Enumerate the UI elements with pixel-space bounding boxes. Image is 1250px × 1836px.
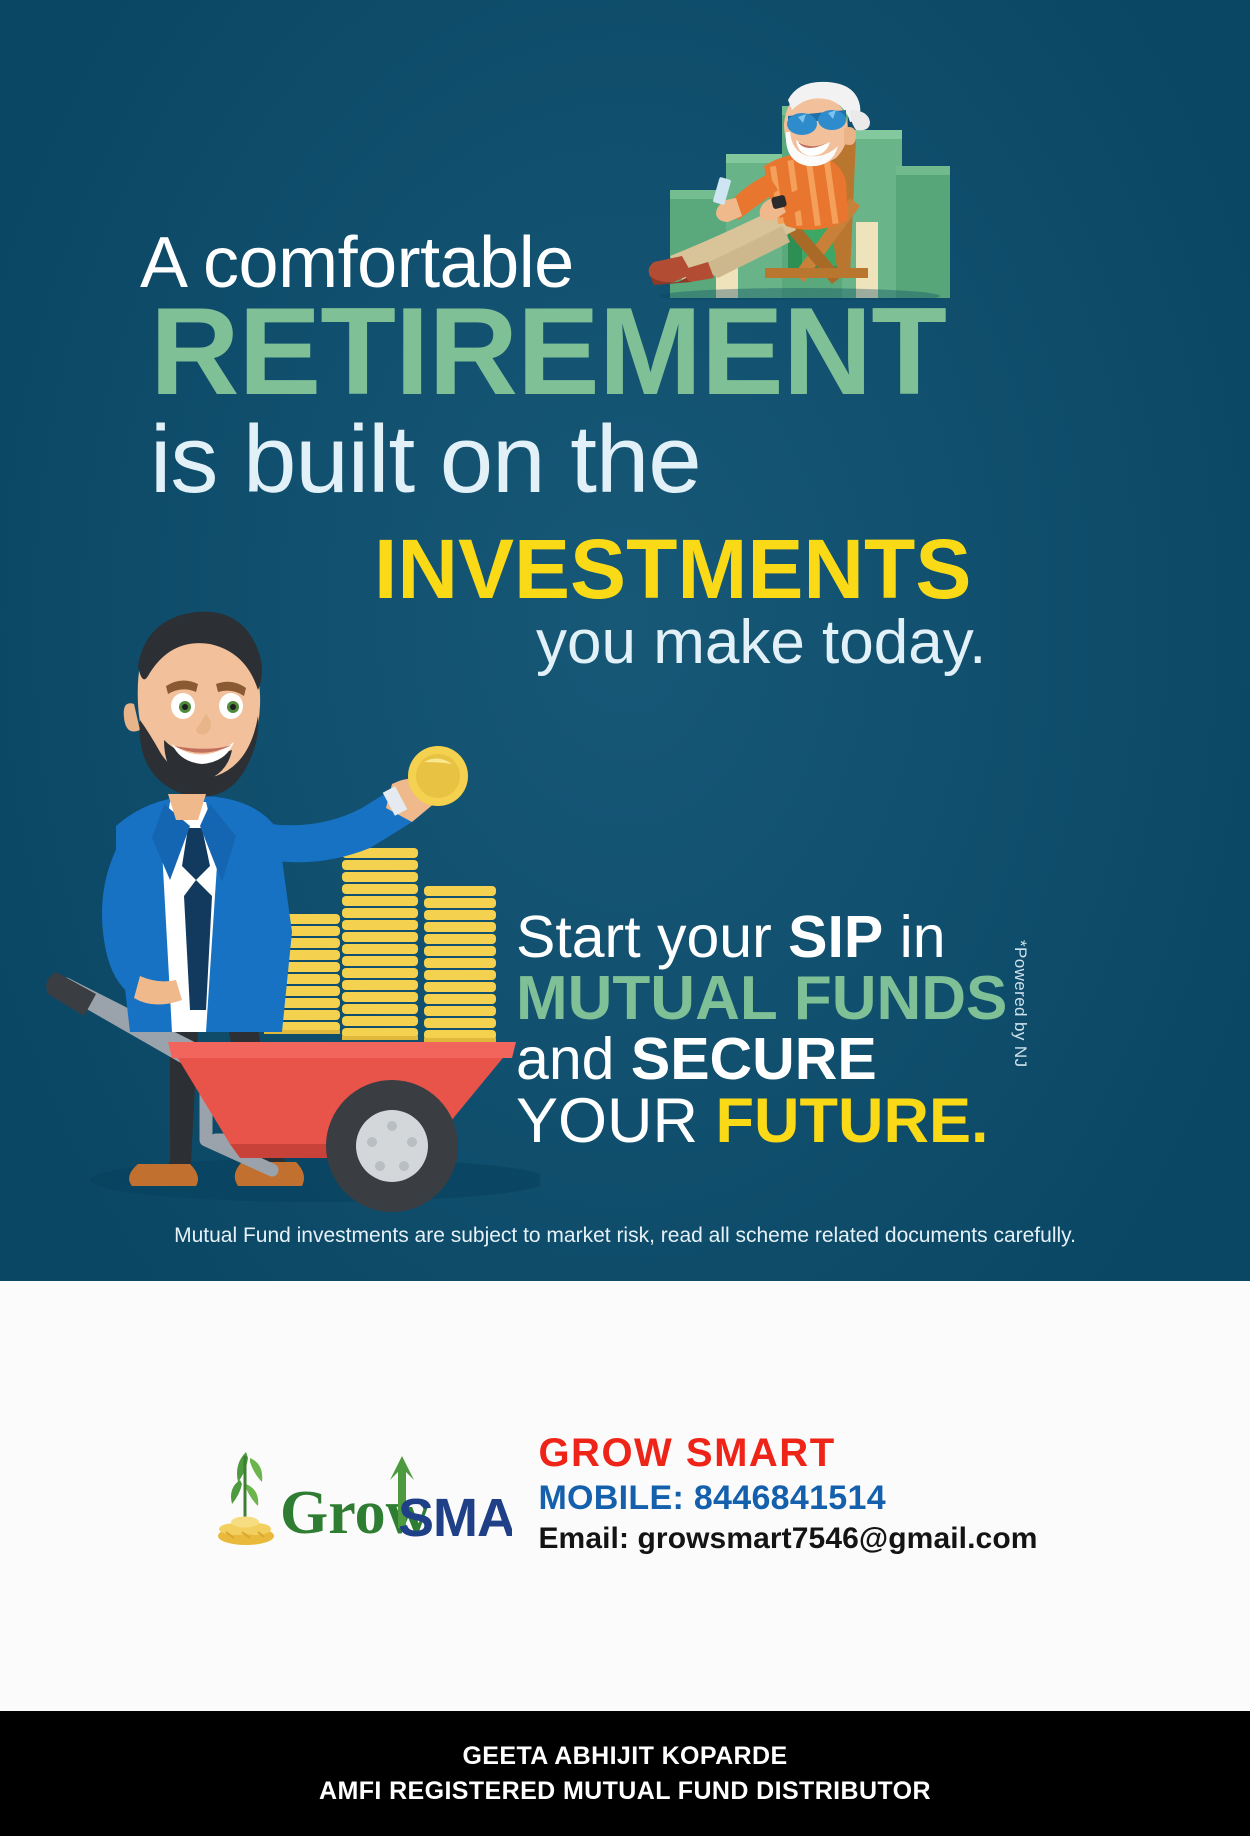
- sip-line-2-mutual-funds: MUTUAL FUNDS: [516, 968, 1007, 1030]
- sip-line-1-bold: SIP: [788, 904, 883, 970]
- sip-line-1: Start your SIP in: [516, 908, 946, 967]
- sip-line-3-bold: SECURE: [631, 1026, 877, 1092]
- sip-line-1-tail: in: [883, 904, 945, 970]
- growsmart-logo: Grow SMART: [212, 1436, 512, 1556]
- headline-line-4-investments: INVESTMENTS: [374, 527, 971, 611]
- sip-line-4-bold: FUTURE.: [716, 1086, 989, 1156]
- headline-line-3: is built on the: [150, 412, 701, 508]
- sprout-icon: [231, 1452, 262, 1522]
- footer-distributor-name: GEETA ABHIJIT KOPARDE: [462, 1742, 787, 1771]
- sip-line-4-plain: YOUR: [516, 1086, 716, 1156]
- contact-band: Grow SMART GROW SMART MOBILE: 8446841514…: [0, 1281, 1250, 1711]
- headline-line-2-retirement: RETIREMENT: [150, 290, 946, 414]
- sip-line-3: and SECURE: [516, 1030, 877, 1089]
- sip-line-4: YOUR FUTURE.: [516, 1090, 989, 1153]
- hero-panel: A comfortable RETIREMENT is built on the…: [0, 0, 1250, 1480]
- contact-brand-name: GROW SMART: [538, 1430, 1037, 1477]
- growsmart-logo-mark: Grow SMART: [212, 1436, 512, 1556]
- coin-pile-icon: [218, 1517, 274, 1546]
- powered-by-note: *Powered by NJ: [1006, 940, 1030, 1068]
- contact-details: GROW SMART MOBILE: 8446841514 Email: gro…: [538, 1430, 1037, 1563]
- poster-root: A comfortable RETIREMENT is built on the…: [0, 0, 1250, 1836]
- sip-line-1-plain: Start your: [516, 904, 788, 970]
- retired-man-illustration: [550, 70, 980, 300]
- contact-mobile[interactable]: MOBILE: 8446841514: [538, 1477, 1037, 1520]
- risk-disclaimer: Mutual Fund investments are subject to m…: [0, 1224, 1250, 1248]
- sip-line-3-plain: and: [516, 1026, 631, 1092]
- headline-line-5: you make today.: [536, 612, 986, 674]
- contact-email[interactable]: Email: growsmart7546@gmail.com: [538, 1519, 1037, 1558]
- footer-bar: GEETA ABHIJIT KOPARDE AMFI REGISTERED MU…: [0, 1711, 1250, 1836]
- footer-designation: AMFI REGISTERED MUTUAL FUND DISTRIBUTOR: [319, 1777, 931, 1806]
- businessman-wheelbarrow-illustration: [20, 580, 540, 1240]
- logo-word-smart: SMART: [398, 1488, 512, 1548]
